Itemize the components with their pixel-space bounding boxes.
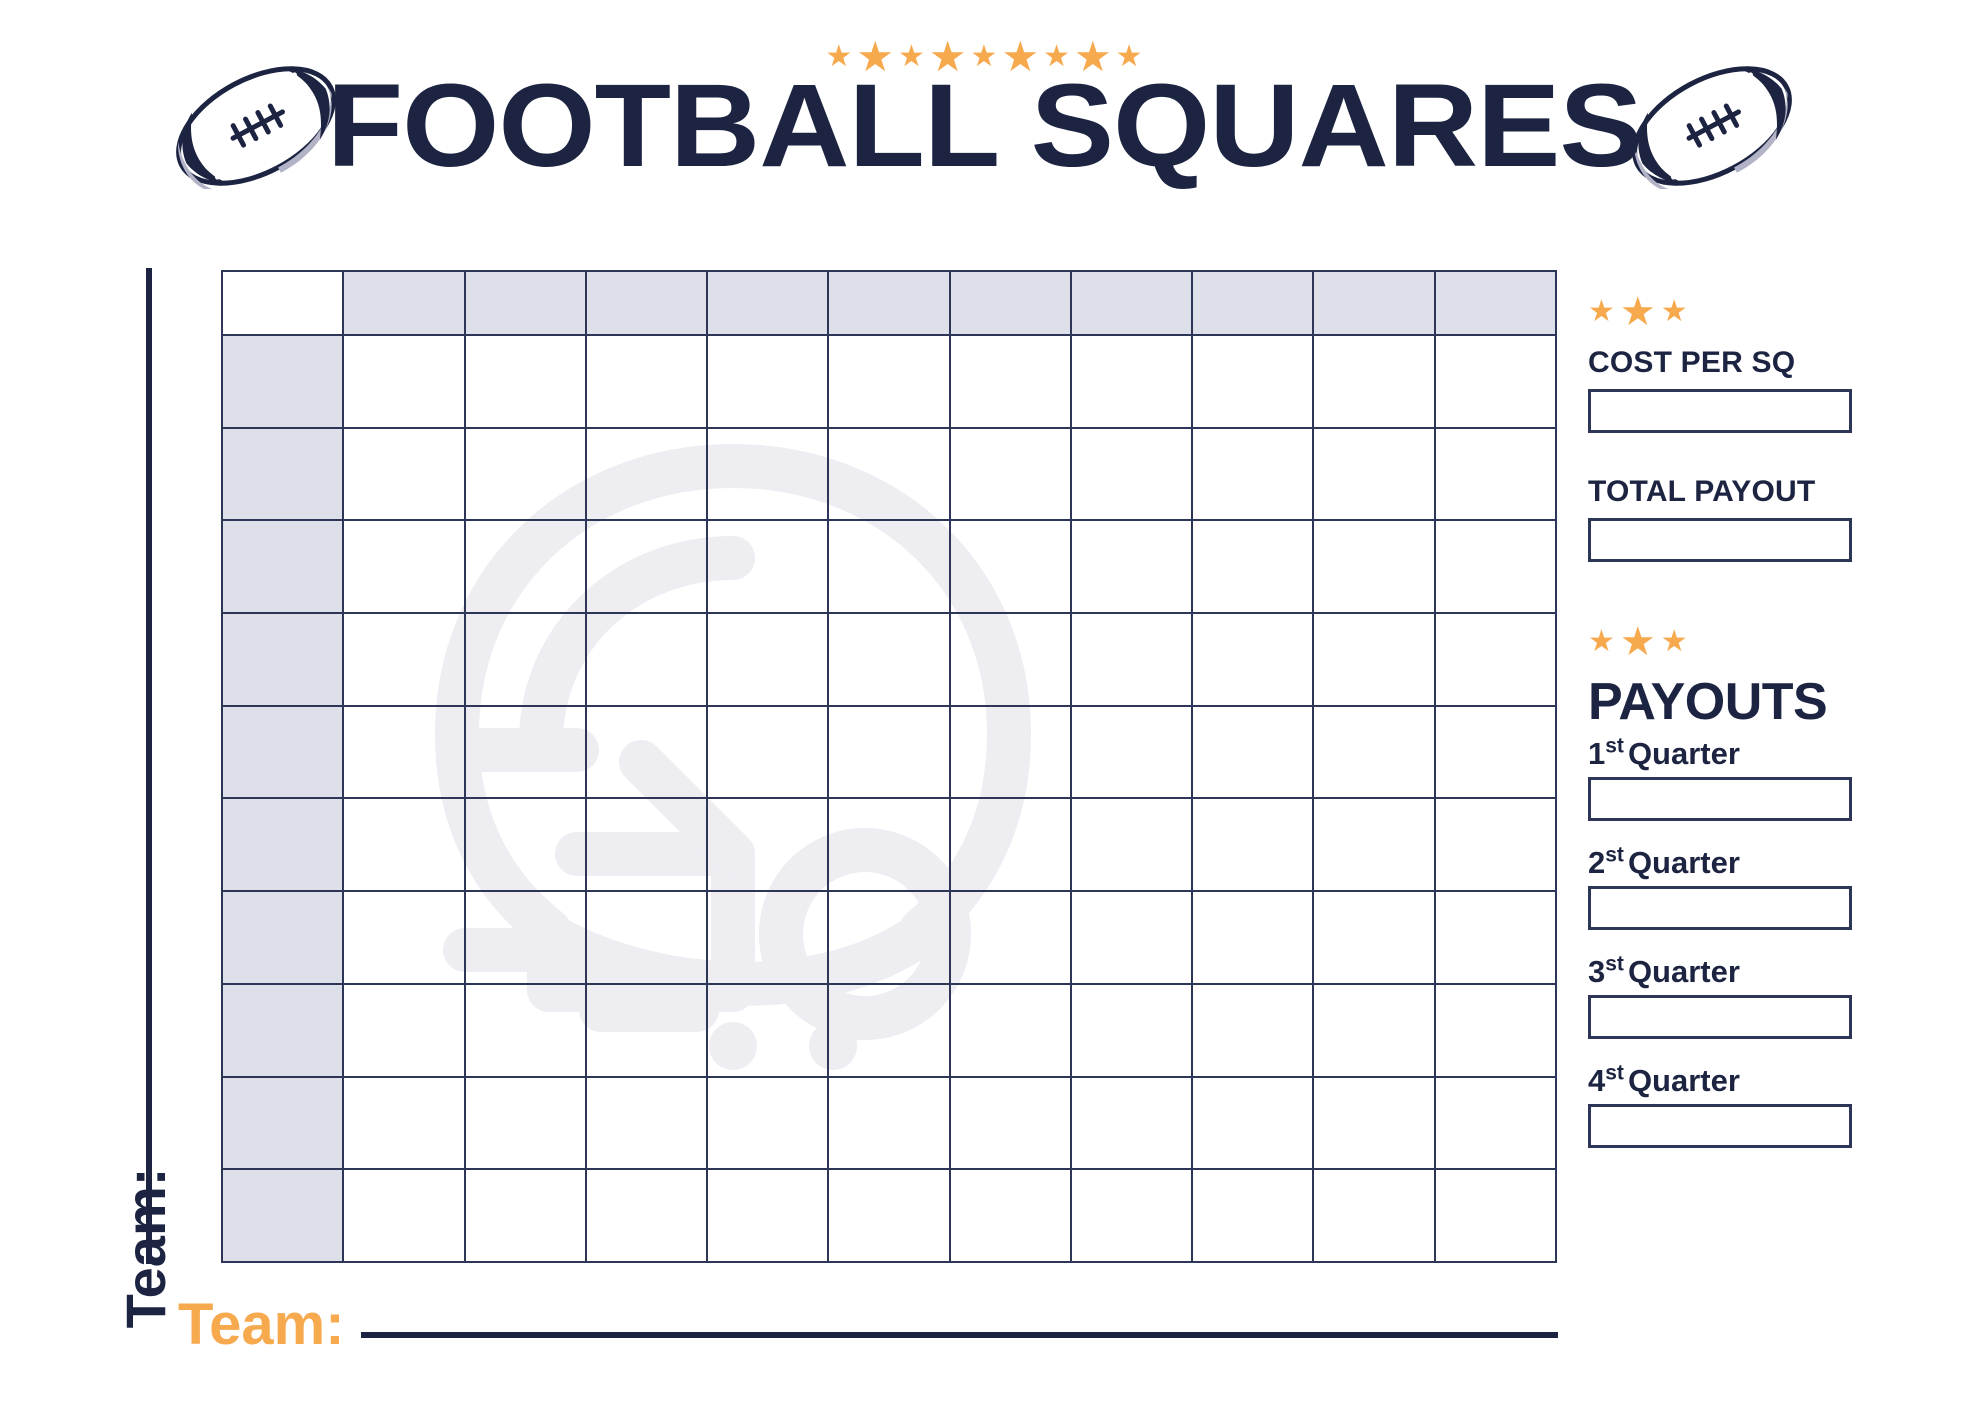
grid-square-cell[interactable] <box>950 428 1071 521</box>
grid-square-cell[interactable] <box>465 428 586 521</box>
grid-square-cell[interactable] <box>1313 520 1434 613</box>
grid-square-cell[interactable] <box>707 706 828 799</box>
payout-quarter-label: 1stQuarter <box>1588 738 1878 769</box>
grid-square-cell[interactable] <box>1192 428 1313 521</box>
grid-square-cell[interactable] <box>586 335 707 428</box>
grid-col-header-cell[interactable] <box>586 271 707 335</box>
grid-square-cell[interactable] <box>343 798 464 891</box>
payout-quarter-block: 2stQuarter <box>1588 847 1878 930</box>
grid-col-header-cell[interactable] <box>707 271 828 335</box>
payout-quarter-input[interactable] <box>1588 777 1852 821</box>
payout-quarter-input[interactable] <box>1588 1104 1852 1148</box>
grid-square-cell[interactable] <box>586 1169 707 1262</box>
grid-col-header-cell[interactable] <box>1192 271 1313 335</box>
grid-square-cell[interactable] <box>1313 798 1434 891</box>
star-icon: ★ <box>1620 292 1656 332</box>
grid-row-header-cell[interactable] <box>222 335 343 428</box>
star-icon: ★ <box>1588 627 1615 657</box>
grid-col-header-cell[interactable] <box>1435 271 1556 335</box>
quarter-ordinal-suffix: st <box>1605 844 1624 867</box>
grid-square-cell[interactable] <box>950 891 1071 984</box>
grid-header-row <box>222 271 1556 335</box>
grid-square-cell[interactable] <box>707 798 828 891</box>
grid-square-cell[interactable] <box>586 1077 707 1170</box>
grid-row <box>222 428 1556 521</box>
grid-row <box>222 706 1556 799</box>
side-panel-stars-mid: ★★★ <box>1588 622 1878 662</box>
grid-corner-cell <box>222 271 343 335</box>
grid-square-cell[interactable] <box>1071 1077 1192 1170</box>
grid-square-cell[interactable] <box>707 613 828 706</box>
grid-square-cell[interactable] <box>1435 984 1556 1077</box>
football-icon-right <box>1622 63 1802 189</box>
grid-square-cell[interactable] <box>343 520 464 613</box>
grid-square-cell[interactable] <box>707 1077 828 1170</box>
quarter-ordinal-suffix: st <box>1605 735 1624 758</box>
payout-quarters-list: 1stQuarter2stQuarter3stQuarter4stQuarter <box>1588 738 1878 1148</box>
quarter-number: 4 <box>1588 1063 1605 1098</box>
grid-square-cell[interactable] <box>828 613 949 706</box>
grid-square-cell[interactable] <box>1192 798 1313 891</box>
grid-row-header-cell[interactable] <box>222 1169 343 1262</box>
grid-square-cell[interactable] <box>1435 891 1556 984</box>
grid-row <box>222 984 1556 1077</box>
grid-square-cell[interactable] <box>1313 706 1434 799</box>
grid-square-cell[interactable] <box>343 706 464 799</box>
grid-square-cell[interactable] <box>465 984 586 1077</box>
grid-square-cell[interactable] <box>950 984 1071 1077</box>
grid-row <box>222 1169 1556 1262</box>
team-bottom-label: Team: <box>178 1296 345 1354</box>
grid-square-cell[interactable] <box>343 335 464 428</box>
quarter-word: Quarter <box>1628 736 1740 771</box>
grid-square-cell[interactable] <box>1435 613 1556 706</box>
star-icon: ★ <box>1620 622 1656 662</box>
grid-square-cell[interactable] <box>1071 428 1192 521</box>
grid-square-cell[interactable] <box>707 335 828 428</box>
grid-col-header-cell[interactable] <box>1071 271 1192 335</box>
grid-row-header-cell[interactable] <box>222 613 343 706</box>
grid-square-cell[interactable] <box>1192 520 1313 613</box>
grid-square-cell[interactable] <box>950 335 1071 428</box>
grid-square-cell[interactable] <box>950 1077 1071 1170</box>
grid-square-cell[interactable] <box>1071 613 1192 706</box>
grid-square-cell[interactable] <box>1435 520 1556 613</box>
total-payout-label: TOTAL PAYOUT <box>1588 475 1878 508</box>
payout-quarter-input[interactable] <box>1588 995 1852 1039</box>
payouts-heading: PAYOUTS <box>1588 676 1878 728</box>
side-panel-stars-top: ★★★ <box>1588 292 1878 332</box>
grid-square-cell[interactable] <box>1192 1169 1313 1262</box>
grid-square-cell[interactable] <box>707 428 828 521</box>
grid-row-header-cell[interactable] <box>222 1077 343 1170</box>
team-bottom-rule <box>361 1332 1558 1338</box>
grid-row-header-cell[interactable] <box>222 706 343 799</box>
grid-square-cell[interactable] <box>1313 335 1434 428</box>
grid-square-cell[interactable] <box>1313 891 1434 984</box>
grid-col-header-cell[interactable] <box>950 271 1071 335</box>
grid-square-cell[interactable] <box>465 798 586 891</box>
grid-row-header-cell[interactable] <box>222 798 343 891</box>
grid-square-cell[interactable] <box>828 706 949 799</box>
grid-square-cell[interactable] <box>1071 1169 1192 1262</box>
grid-square-cell[interactable] <box>343 1077 464 1170</box>
grid-row-header-cell[interactable] <box>222 984 343 1077</box>
grid-square-cell[interactable] <box>1313 428 1434 521</box>
grid-square-cell[interactable] <box>707 984 828 1077</box>
grid-square-cell[interactable] <box>586 428 707 521</box>
grid-square-cell[interactable] <box>950 798 1071 891</box>
grid-square-cell[interactable] <box>465 613 586 706</box>
grid-square-cell[interactable] <box>343 613 464 706</box>
grid-row <box>222 1077 1556 1170</box>
quarter-word: Quarter <box>1628 845 1740 880</box>
grid-square-cell[interactable] <box>1435 706 1556 799</box>
quarter-ordinal-suffix: st <box>1605 953 1624 976</box>
grid-square-cell[interactable] <box>707 520 828 613</box>
payout-quarter-label: 3stQuarter <box>1588 956 1878 987</box>
grid-square-cell[interactable] <box>1192 891 1313 984</box>
grid-square-cell[interactable] <box>465 1077 586 1170</box>
grid-square-cell[interactable] <box>707 1169 828 1262</box>
payout-quarter-label: 4stQuarter <box>1588 1065 1878 1096</box>
grid-square-cell[interactable] <box>586 706 707 799</box>
grid-square-cell[interactable] <box>465 706 586 799</box>
grid-square-cell[interactable] <box>1071 706 1192 799</box>
grid-square-cell[interactable] <box>950 520 1071 613</box>
grid-row <box>222 798 1556 891</box>
grid-square-cell[interactable] <box>343 891 464 984</box>
grid-square-cell[interactable] <box>950 706 1071 799</box>
grid-square-cell[interactable] <box>828 1169 949 1262</box>
payout-quarter-block: 3stQuarter <box>1588 956 1878 1039</box>
grid-square-cell[interactable] <box>1192 1077 1313 1170</box>
grid-square-cell[interactable] <box>343 428 464 521</box>
grid-square-cell[interactable] <box>828 798 949 891</box>
quarter-word: Quarter <box>1628 1063 1740 1098</box>
quarter-word: Quarter <box>1628 954 1740 989</box>
grid-square-cell[interactable] <box>586 613 707 706</box>
grid-square-cell[interactable] <box>1071 891 1192 984</box>
grid-square-cell[interactable] <box>465 520 586 613</box>
team-left-group: Team: <box>124 268 168 1264</box>
grid-square-cell[interactable] <box>1192 984 1313 1077</box>
grid-row <box>222 520 1556 613</box>
title-bar: FOOTBALL SQUARES <box>0 62 1968 190</box>
grid-square-cell[interactable] <box>1071 984 1192 1077</box>
star-icon: ★ <box>1588 297 1615 327</box>
payout-quarter-block: 4stQuarter <box>1588 1065 1878 1148</box>
quarter-number: 1 <box>1588 736 1605 771</box>
grid-row-header-cell[interactable] <box>222 428 343 521</box>
team-bottom-group: Team: <box>178 1296 1558 1376</box>
squares-grid-wrap <box>221 270 1557 1263</box>
grid-square-cell[interactable] <box>586 520 707 613</box>
grid-square-cell[interactable] <box>1071 335 1192 428</box>
page-title: FOOTBALL SQUARES <box>327 67 1642 185</box>
grid-square-cell[interactable] <box>1313 984 1434 1077</box>
grid-square-cell[interactable] <box>1192 706 1313 799</box>
grid-square-cell[interactable] <box>828 1077 949 1170</box>
grid-square-cell[interactable] <box>828 891 949 984</box>
grid-col-header-cell[interactable] <box>828 271 949 335</box>
grid-square-cell[interactable] <box>1071 520 1192 613</box>
grid-square-cell[interactable] <box>586 798 707 891</box>
grid-square-cell[interactable] <box>465 335 586 428</box>
grid-square-cell[interactable] <box>1313 1169 1434 1262</box>
side-panel: ★★★ COST PER SQ TOTAL PAYOUT ★★★ PAYOUTS… <box>1588 292 1878 1174</box>
grid-row <box>222 613 1556 706</box>
grid-square-cell[interactable] <box>1313 1077 1434 1170</box>
grid-square-cell[interactable] <box>343 984 464 1077</box>
squares-grid[interactable] <box>221 270 1557 1263</box>
payout-quarter-input[interactable] <box>1588 886 1852 930</box>
grid-col-header-cell[interactable] <box>465 271 586 335</box>
grid-square-cell[interactable] <box>1192 335 1313 428</box>
cost-per-sq-input[interactable] <box>1588 389 1852 433</box>
grid-square-cell[interactable] <box>586 984 707 1077</box>
grid-row-header-cell[interactable] <box>222 891 343 984</box>
grid-square-cell[interactable] <box>828 428 949 521</box>
grid-square-cell[interactable] <box>1071 798 1192 891</box>
grid-square-cell[interactable] <box>465 1169 586 1262</box>
grid-square-cell[interactable] <box>950 1169 1071 1262</box>
grid-square-cell[interactable] <box>1313 613 1434 706</box>
star-icon: ★ <box>1661 627 1688 657</box>
grid-square-cell[interactable] <box>1435 335 1556 428</box>
grid-row <box>222 891 1556 984</box>
star-icon: ★ <box>1661 297 1688 327</box>
grid-square-cell[interactable] <box>1435 428 1556 521</box>
grid-square-cell[interactable] <box>586 891 707 984</box>
grid-square-cell[interactable] <box>343 1169 464 1262</box>
payout-quarter-label: 2stQuarter <box>1588 847 1878 878</box>
grid-square-cell[interactable] <box>1435 798 1556 891</box>
grid-col-header-cell[interactable] <box>1313 271 1434 335</box>
cost-per-sq-label: COST PER SQ <box>1588 346 1878 379</box>
quarter-number: 2 <box>1588 845 1605 880</box>
grid-square-cell[interactable] <box>828 335 949 428</box>
grid-square-cell[interactable] <box>465 891 586 984</box>
quarter-number: 3 <box>1588 954 1605 989</box>
quarter-ordinal-suffix: st <box>1605 1062 1624 1085</box>
total-payout-input[interactable] <box>1588 518 1852 562</box>
grid-square-cell[interactable] <box>828 520 949 613</box>
grid-square-cell[interactable] <box>828 984 949 1077</box>
grid-square-cell[interactable] <box>707 891 828 984</box>
grid-square-cell[interactable] <box>1435 1169 1556 1262</box>
grid-row-header-cell[interactable] <box>222 520 343 613</box>
grid-row <box>222 335 1556 428</box>
grid-square-cell[interactable] <box>950 613 1071 706</box>
grid-col-header-cell[interactable] <box>343 271 464 335</box>
payout-quarter-block: 1stQuarter <box>1588 738 1878 821</box>
grid-square-cell[interactable] <box>1435 1077 1556 1170</box>
grid-square-cell[interactable] <box>1192 613 1313 706</box>
football-icon-left <box>166 63 346 189</box>
team-left-label: Team: <box>122 1068 170 1428</box>
